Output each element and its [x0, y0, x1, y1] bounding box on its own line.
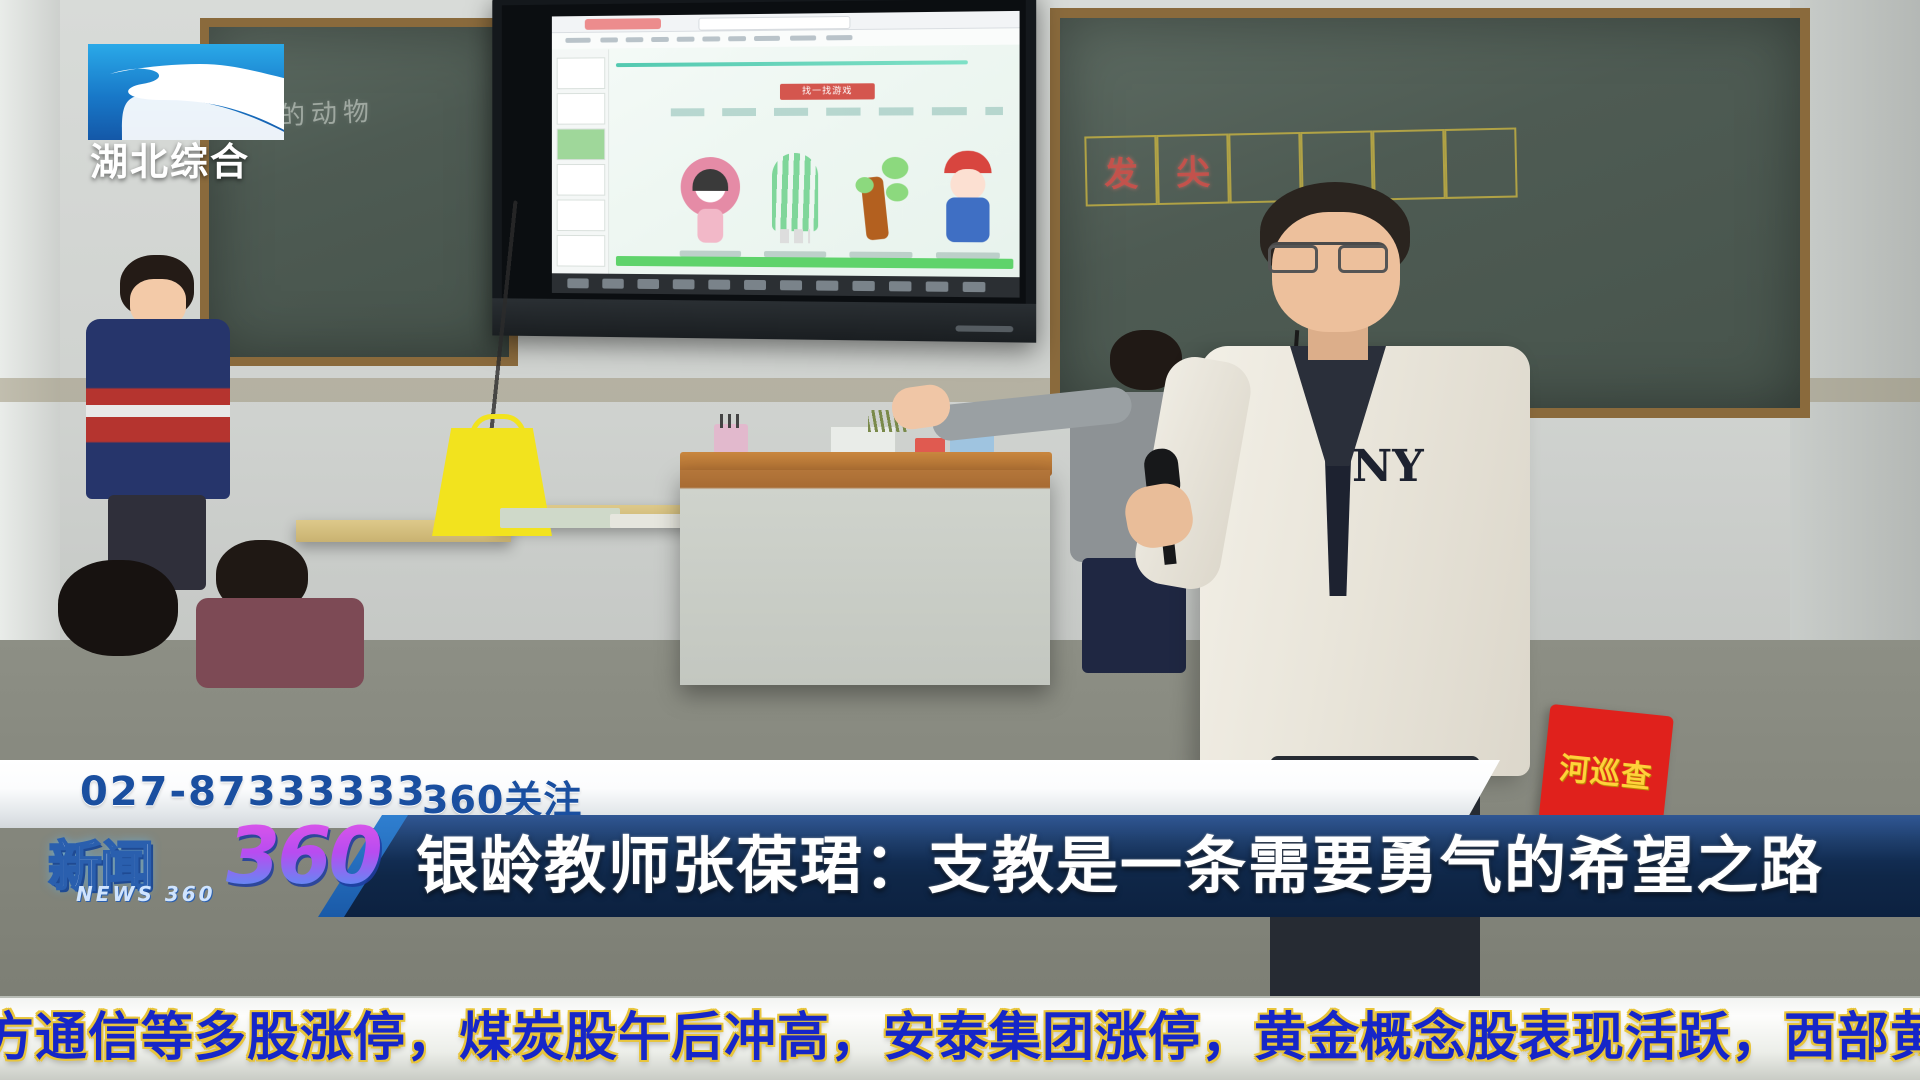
browser-tab-active — [585, 18, 661, 30]
hotline-number: 027-87333333 — [80, 769, 427, 815]
smartboard-screen: 找一找游戏 — [552, 11, 1020, 298]
program-logo-number: 360 — [226, 812, 380, 902]
slide-figure-row — [669, 129, 1011, 256]
news-ticker: 方通信等多股涨停，煤炭股午后冲高，安泰集团涨停，黄金概念股表现活跃，西部黄金、中 — [0, 996, 1920, 1080]
slide-canvas: 找一找游戏 — [610, 46, 1019, 298]
slide-subtitle-text — [671, 107, 1003, 116]
channel-logo-box — [88, 44, 284, 140]
slide-thumbnail — [557, 235, 606, 267]
student-seated-foreground — [22, 560, 222, 700]
slide-thumbnail — [557, 93, 606, 125]
books-stack — [610, 514, 690, 528]
smartboard-brand-mark — [955, 325, 1013, 332]
slide-thumbnail-panel — [552, 49, 609, 293]
broadcast-screenshot: 可爱的动物 发 尖 — [0, 0, 1920, 1080]
figure-grass-character — [756, 143, 834, 256]
program-logo-english: NEWS 360 — [76, 882, 216, 906]
slide-divider — [616, 60, 968, 67]
figure-tree-character — [841, 143, 920, 256]
ticker-text: 方通信等多股涨停，煤炭股午后冲高，安泰集团涨停，黄金概念股表现活跃，西部黄金、中 — [0, 1004, 1920, 1072]
smartboard-lower-bezel — [492, 298, 1036, 343]
headline-text: 银龄教师张葆珺：支教是一条需要勇气的希望之路 — [416, 825, 1824, 907]
figure-mushroom-boy-character — [927, 143, 1007, 257]
channel-name: 湖北综合 — [90, 140, 286, 184]
slide-title-label: 找一找游戏 — [780, 83, 875, 100]
slide-thumbnail — [557, 199, 606, 231]
books-stack — [500, 508, 620, 528]
program-logo: 新闻 360 NEWS 360 — [38, 822, 338, 918]
lower-third-graphics: 027-87333333 360关注 银龄教师张葆珺：支教是一条需要勇气的希望之… — [0, 760, 1920, 1080]
slide-thumbnail — [557, 164, 606, 196]
os-taskbar — [552, 273, 1020, 297]
slide-thumbnail — [557, 57, 606, 89]
teacher-podium — [680, 470, 1050, 685]
slide-progress-bar — [616, 256, 1013, 269]
smartboard-display: 找一找游戏 — [492, 0, 1036, 343]
student-standing-left — [78, 255, 238, 585]
glasses-icon — [1268, 242, 1388, 267]
figure-flower-character — [672, 143, 749, 255]
channel-logo: 湖北综合 — [88, 44, 288, 184]
slide-thumbnail — [557, 128, 606, 160]
browser-address-bar — [698, 16, 850, 31]
jacket-logo: NY — [1352, 442, 1410, 492]
river-wave-icon — [88, 50, 284, 140]
smartboard-bezel: 找一找游戏 — [502, 0, 1026, 304]
